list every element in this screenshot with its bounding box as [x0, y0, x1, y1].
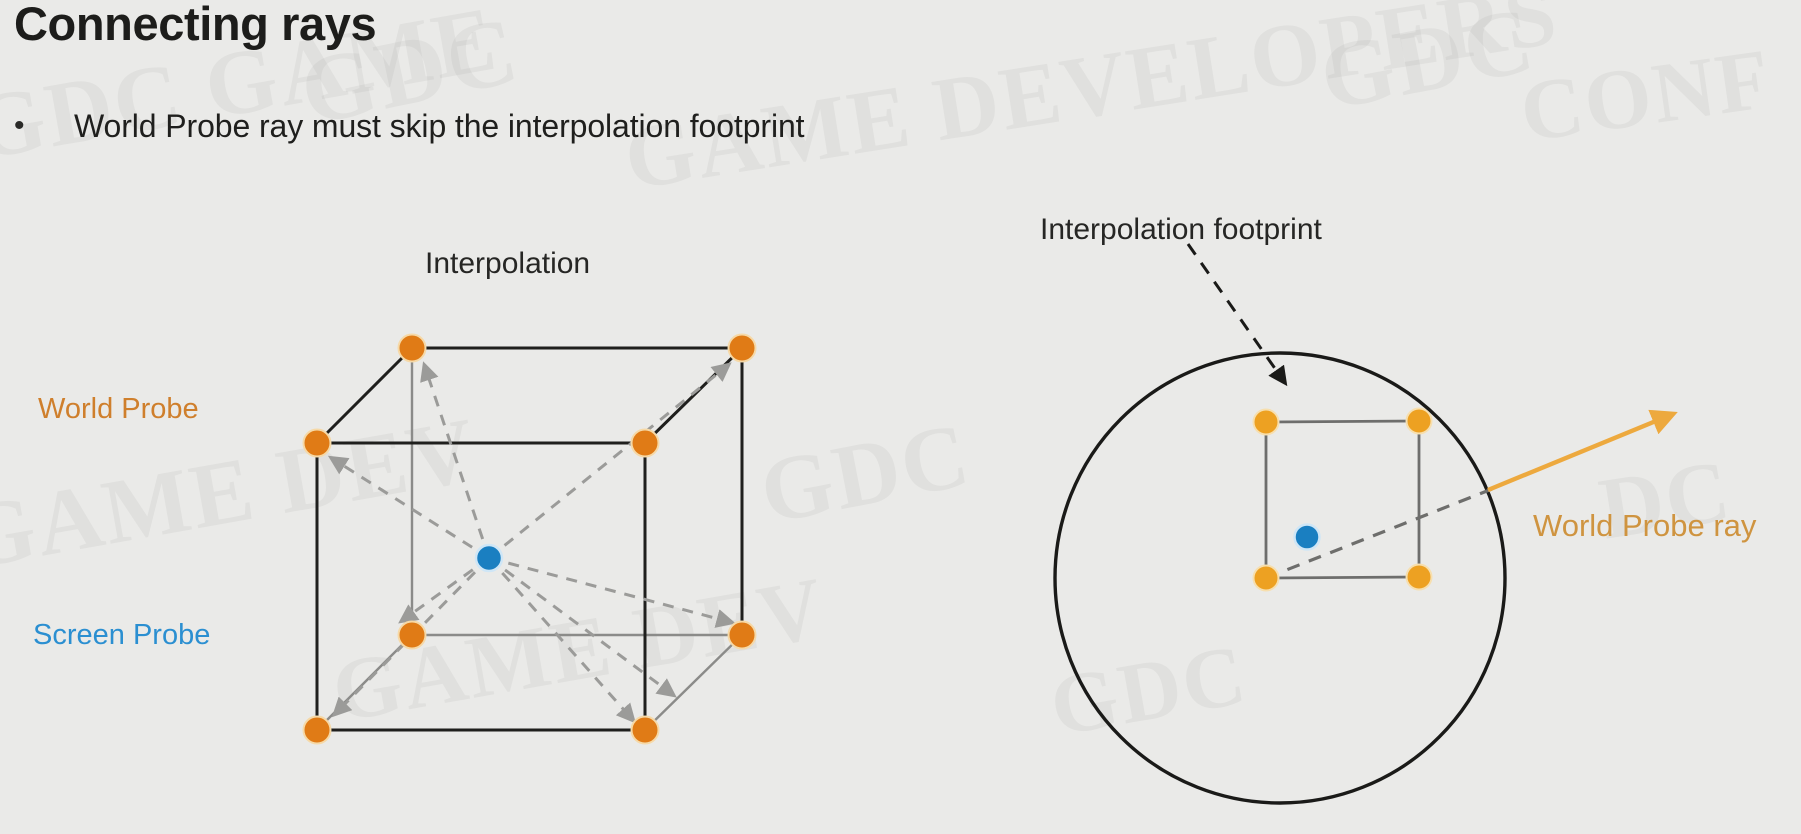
screen-probe-dot: [1295, 525, 1320, 550]
label-interpolation-footprint: Interpolation footprint: [1040, 213, 1322, 247]
world-probe-dot: [729, 335, 756, 362]
world-probe-dot: [399, 335, 426, 362]
screen-probe-dot: [476, 545, 502, 571]
label-world-probe-ray: World Probe ray: [1533, 508, 1756, 544]
footprint-annotation-arrow: [1188, 244, 1283, 380]
ray-to-front-top-right: [489, 558, 632, 719]
footprint-square: [1266, 421, 1419, 578]
ray-to-back-top-left: [425, 367, 489, 558]
world-probe-dot: [632, 717, 659, 744]
ray-to-back-top-right: [489, 366, 727, 558]
legend-label-screen-probe: Screen Probe: [33, 619, 210, 652]
world-probe-dot: [1407, 409, 1432, 434]
world-probe-dot: [304, 717, 331, 744]
left-diagram-cube: [0, 0, 1801, 834]
slide-canvas: GDC GAME GDC GAME DEVELOPERS GDC CONF GA…: [0, 0, 1801, 834]
world-probe-dot: [1254, 410, 1279, 435]
world-probe-dot: [399, 622, 426, 649]
legend-label-world-probe: World Probe: [38, 393, 199, 426]
world-probe-dots: [304, 335, 756, 744]
world-probe-dot: [1407, 565, 1432, 590]
ray-to-back-bot-right: [489, 558, 730, 622]
world-probe-dot: [304, 430, 331, 457]
ray-to-back-bot-left: [403, 558, 489, 620]
label-interpolation: Interpolation: [425, 247, 590, 281]
world-probe-dot: [1254, 566, 1279, 591]
world-probe-dot: [632, 430, 659, 457]
footprint-probe-dots: [1254, 409, 1432, 591]
world-probe-dot: [729, 622, 756, 649]
world-probe-ray-solid: [1488, 416, 1668, 490]
